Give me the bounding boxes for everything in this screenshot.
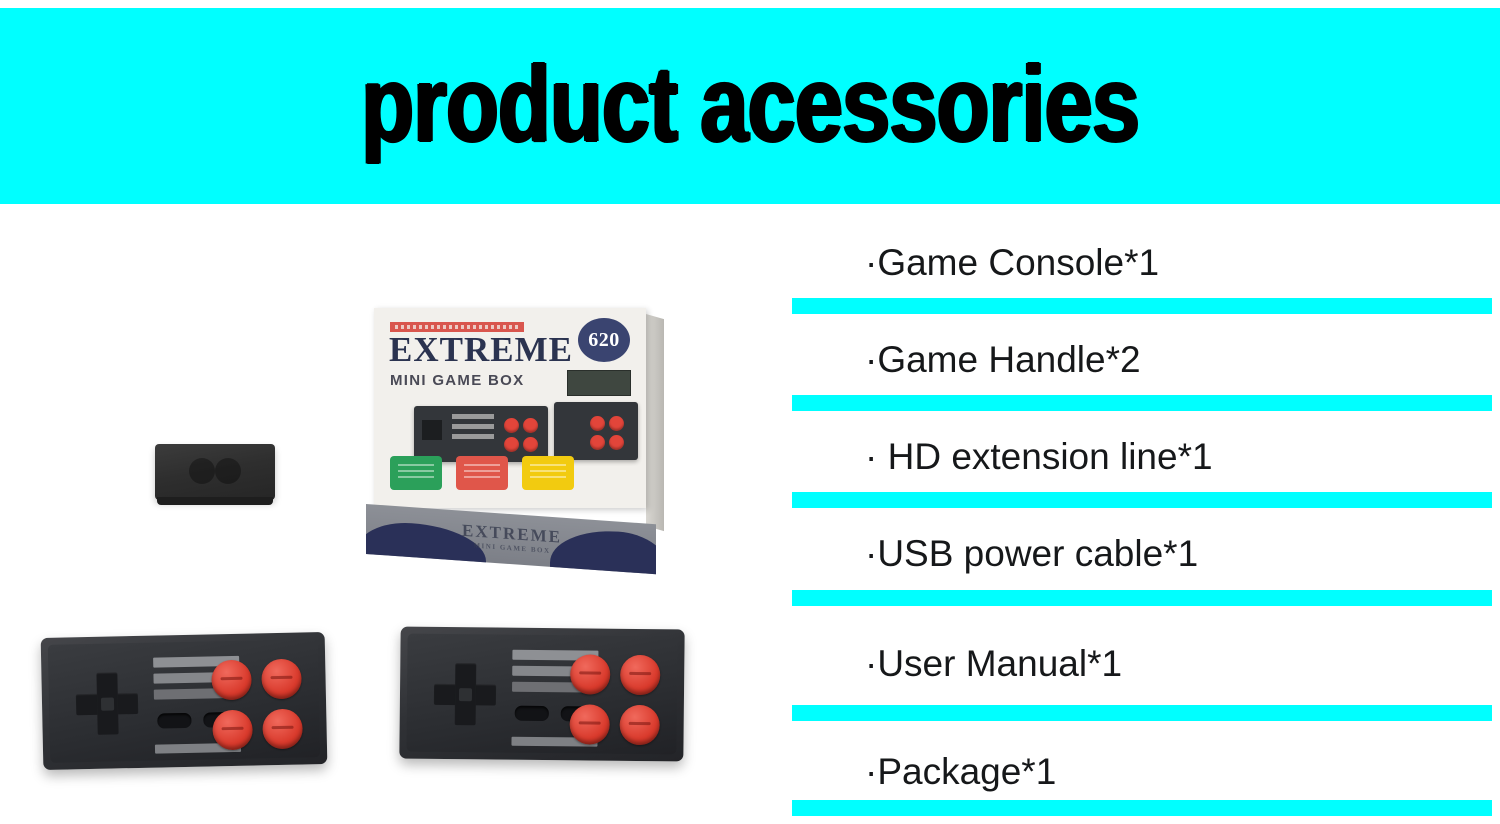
box-artwork-button	[609, 416, 624, 431]
box-artwork-button	[609, 435, 624, 450]
accessory-item: ·User Manual*1	[865, 645, 1122, 682]
action-button	[262, 709, 303, 750]
accessory-item: ·USB power cable*1	[865, 535, 1198, 572]
box-artwork-button	[590, 416, 605, 431]
retail-package-box: EXTREME MINI GAME BOX 620	[366, 308, 664, 554]
header-banner: product acessories	[0, 8, 1500, 204]
accessory-divider	[792, 590, 1492, 606]
action-button	[619, 705, 659, 745]
console-port-one-icon	[189, 458, 215, 484]
game-console-unit	[155, 444, 275, 500]
box-screen-graphic	[567, 370, 631, 396]
accessory-item: ·Package*1	[865, 753, 1056, 790]
box-game-thumbnail-green	[390, 456, 442, 490]
action-button	[211, 660, 252, 701]
box-bottom-face: EXTREME MINI GAME BOX	[366, 504, 656, 574]
accessory-list: ·Game Console*1·Game Handle*2· HD extens…	[780, 208, 1500, 824]
box-wave-right	[550, 527, 656, 574]
box-side-face	[646, 314, 664, 531]
accessory-divider	[792, 705, 1492, 721]
product-accessories-infographic: product acessories EXTREME MINI GAME BOX…	[0, 0, 1500, 824]
box-artwork-stripes	[452, 414, 494, 444]
select-button	[515, 706, 549, 721]
box-brand-name: EXTREME	[389, 332, 573, 367]
box-game-thumbnail-yellow	[522, 456, 574, 490]
box-front-face: EXTREME MINI GAME BOX 620	[374, 308, 646, 508]
accessory-divider	[792, 298, 1492, 314]
box-game-thumbnail-red	[456, 456, 508, 490]
box-artwork-controller-one	[414, 406, 548, 462]
gamepad-action-buttons	[569, 654, 660, 745]
page-title: product acessories	[361, 50, 1139, 158]
select-button	[157, 713, 191, 729]
box-artwork-button	[523, 418, 538, 433]
dpad-icon	[75, 672, 138, 735]
thumbnail-pixels	[530, 464, 566, 482]
box-artwork-button	[590, 435, 605, 450]
action-button	[620, 655, 660, 695]
box-game-count-badge: 620	[578, 318, 630, 362]
box-artwork-buttons	[504, 418, 538, 452]
action-button	[212, 710, 253, 751]
accessory-item: ·Game Console*1	[865, 244, 1159, 281]
action-button	[569, 704, 609, 744]
thumbnail-pixels	[398, 464, 434, 482]
accessory-divider	[792, 800, 1492, 816]
accessory-divider	[792, 395, 1492, 411]
box-artwork-controller-two	[554, 402, 638, 460]
gamepad-action-buttons	[211, 659, 303, 751]
product-photo-area: EXTREME MINI GAME BOX 620	[0, 208, 780, 824]
game-handle-one	[41, 632, 328, 770]
box-artwork-buttons	[590, 416, 624, 450]
accessory-item: ·Game Handle*2	[865, 341, 1141, 378]
box-artwork-dpad-icon	[422, 420, 442, 440]
box-artwork-button	[523, 437, 538, 452]
thumbnail-pixels	[464, 464, 500, 482]
game-handle-two	[399, 627, 684, 762]
action-button	[570, 654, 610, 694]
console-port-two-icon	[215, 458, 241, 484]
action-button	[261, 659, 302, 700]
box-subtitle: MINI GAME BOX	[390, 372, 524, 389]
dpad-center	[459, 688, 472, 701]
console-base-edge	[157, 497, 273, 505]
box-artwork-button	[504, 437, 519, 452]
box-artwork-button	[504, 418, 519, 433]
dpad-center	[101, 697, 114, 710]
dpad-icon	[434, 663, 497, 726]
accessory-item: · HD extension line*1	[865, 438, 1213, 475]
accessory-divider	[792, 492, 1492, 508]
